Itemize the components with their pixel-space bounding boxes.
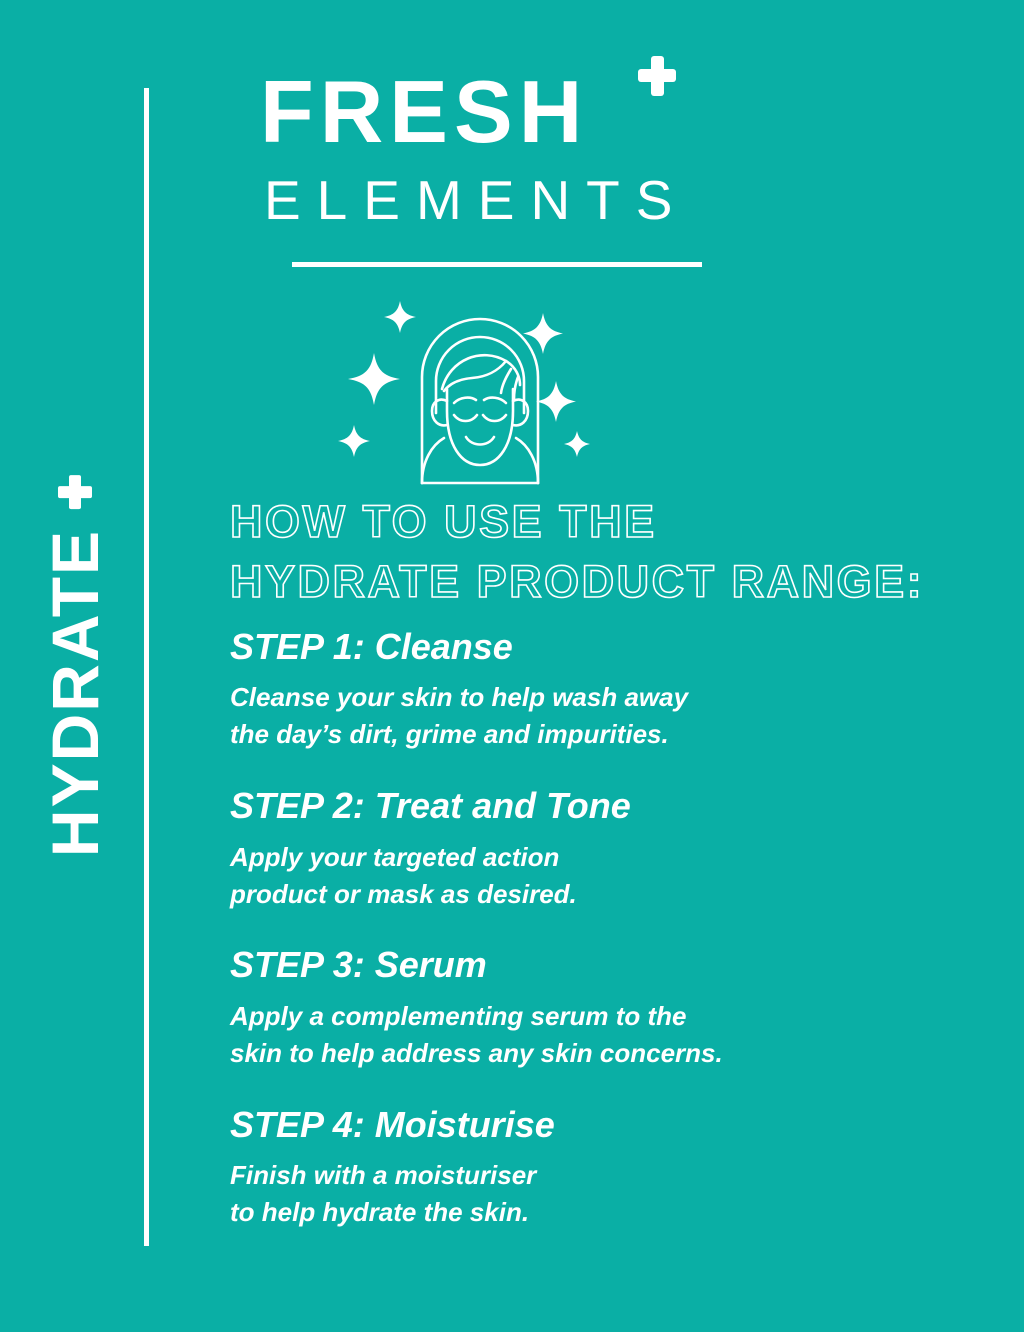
step-item: STEP 2: Treat and Tone Apply your target…: [230, 785, 970, 912]
sparkle-icon: [384, 301, 416, 333]
vertical-divider: [144, 88, 149, 1246]
step-body-line: Apply your targeted action: [230, 839, 970, 876]
plus-icon: [638, 56, 676, 96]
brand-name-text: FRESH: [260, 62, 588, 161]
step-body-line: the day’s dirt, grime and impurities.: [230, 716, 970, 753]
step-body-line: Finish with a moisturiser: [230, 1157, 970, 1194]
side-vertical-label: HYDRATE: [0, 0, 150, 1332]
step-title: STEP 3: Serum: [230, 944, 970, 985]
step-title: STEP 2: Treat and Tone: [230, 785, 970, 826]
brand-logo: FRESH ELEMENTS: [260, 70, 710, 267]
step-body-line: to help hydrate the skin.: [230, 1194, 970, 1231]
poster-canvas: HYDRATE FRESH ELEMENTS: [0, 0, 1024, 1332]
brand-subtitle: ELEMENTS: [260, 168, 710, 232]
sparkling-face-icon: [330, 285, 630, 490]
side-label-inner: HYDRATE: [37, 475, 113, 857]
instructions-heading: HOW TO USE THE HYDRATE PRODUCT RANGE:: [230, 492, 970, 612]
step-body-line: product or mask as desired.: [230, 876, 970, 913]
plus-icon: [58, 475, 92, 509]
sparkle-icon: [536, 381, 576, 422]
sparkle-icon: [338, 425, 370, 457]
sparkle-icon: [523, 313, 563, 354]
step-title: STEP 4: Moisturise: [230, 1104, 970, 1145]
logo-underline-rule: [292, 262, 702, 267]
side-label-text: HYDRATE: [37, 529, 113, 857]
instructions-heading-line-1: HOW TO USE THE: [230, 492, 970, 552]
instructions-heading-line-2: HYDRATE PRODUCT RANGE:: [230, 552, 970, 612]
step-item: STEP 1: Cleanse Cleanse your skin to hel…: [230, 626, 970, 753]
sparkle-icon: [348, 353, 400, 405]
brand-name: FRESH: [260, 70, 588, 154]
steps-list: STEP 1: Cleanse Cleanse your skin to hel…: [230, 626, 970, 1231]
step-title: STEP 1: Cleanse: [230, 626, 970, 667]
step-item: STEP 4: Moisturise Finish with a moistur…: [230, 1104, 970, 1231]
sparkle-icon: [564, 431, 590, 457]
step-body-line: Apply a complementing serum to the: [230, 998, 970, 1035]
content-column: FRESH ELEMENTS: [230, 0, 990, 1332]
step-body-line: skin to help address any skin concerns.: [230, 1035, 970, 1072]
step-body-line: Cleanse your skin to help wash away: [230, 679, 970, 716]
step-item: STEP 3: Serum Apply a complementing seru…: [230, 944, 970, 1071]
